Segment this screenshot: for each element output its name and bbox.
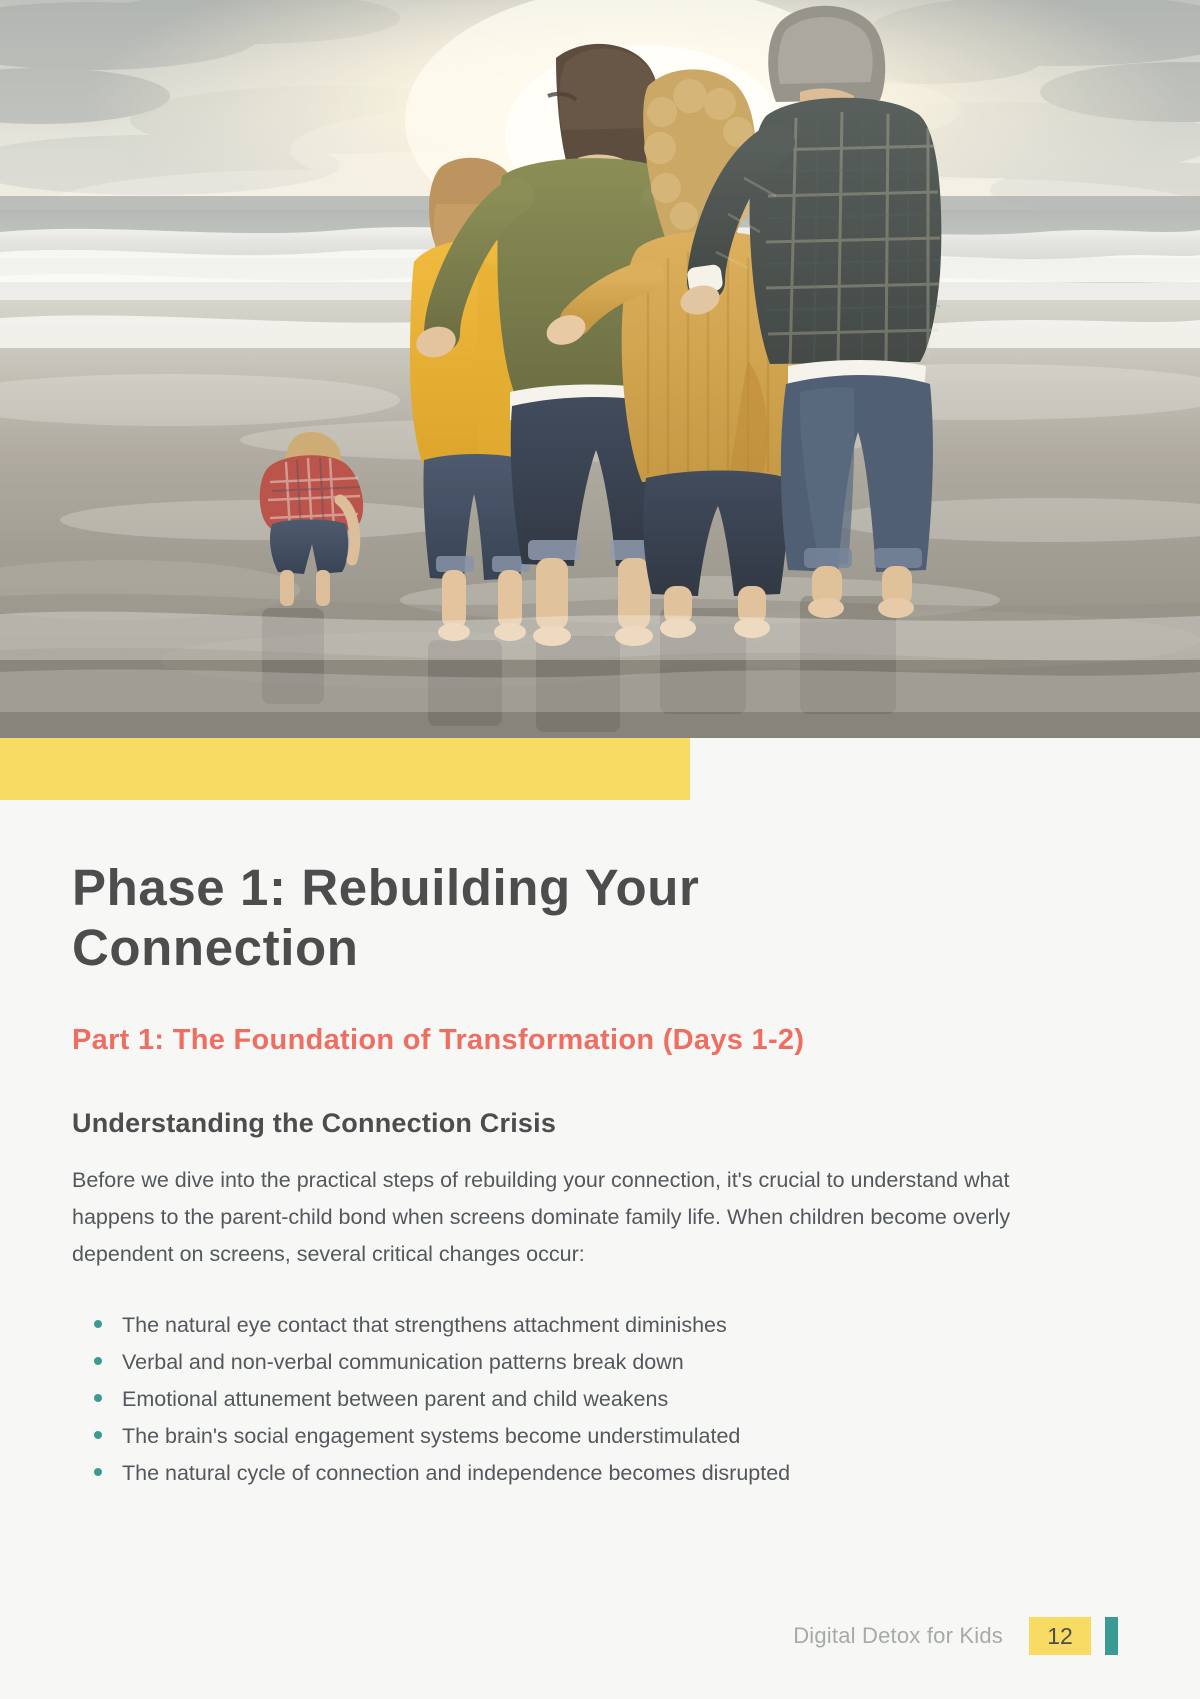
bullet-dot-icon — [94, 1468, 102, 1476]
list-item-label: The natural eye contact that strengthens… — [122, 1313, 727, 1337]
page-number: 12 — [1029, 1617, 1091, 1655]
list-item-label: The brain's social engagement systems be… — [122, 1424, 740, 1448]
hero-image — [0, 0, 1200, 738]
document-page: Phase 1: Rebuilding Your Connection Part… — [0, 0, 1200, 1699]
intro-paragraph: Before we dive into the practical steps … — [72, 1162, 1052, 1273]
bullet-dot-icon — [94, 1357, 102, 1365]
list-item: Verbal and non-verbal communication patt… — [94, 1344, 1128, 1381]
bullet-dot-icon — [94, 1320, 102, 1328]
list-item: Emotional attunement between parent and … — [94, 1381, 1128, 1418]
footer-document-title: Digital Detox for Kids — [793, 1623, 1003, 1649]
beach-family-illustration — [0, 0, 1200, 738]
list-item: The natural eye contact that strengthens… — [94, 1307, 1128, 1344]
list-item-label: The natural cycle of connection and inde… — [122, 1461, 790, 1485]
list-item: The brain's social engagement systems be… — [94, 1418, 1128, 1455]
section-title: Understanding the Connection Crisis — [72, 1107, 1128, 1141]
bullet-dot-icon — [94, 1431, 102, 1439]
list-item-label: Verbal and non-verbal communication patt… — [122, 1350, 684, 1374]
list-item: The natural cycle of connection and inde… — [94, 1455, 1128, 1492]
page-footer: Digital Detox for Kids 12 — [0, 1610, 1200, 1662]
footer-teal-tab — [1105, 1617, 1118, 1655]
crisis-bullet-list: The natural eye contact that strengthens… — [72, 1307, 1128, 1492]
yellow-accent-bar — [0, 738, 690, 800]
page-title: Phase 1: Rebuilding Your Connection — [72, 858, 872, 978]
bullet-dot-icon — [94, 1394, 102, 1402]
page-content: Phase 1: Rebuilding Your Connection Part… — [0, 800, 1200, 1492]
part-title: Part 1: The Foundation of Transformation… — [72, 1022, 1017, 1058]
list-item-label: Emotional attunement between parent and … — [122, 1387, 668, 1411]
